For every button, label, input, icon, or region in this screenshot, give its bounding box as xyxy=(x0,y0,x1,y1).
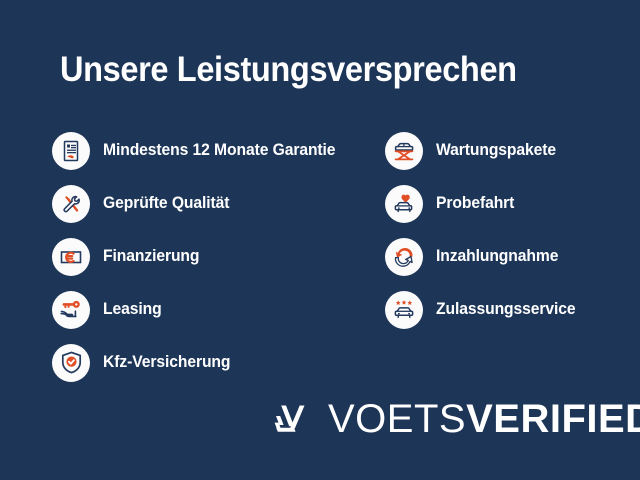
feature-item-wartungspakete[interactable]: Wartungspakete xyxy=(385,124,583,177)
leistungsversprechen-banner: Unsere Leistungsversprechen Min xyxy=(0,0,640,480)
exchange-arrows-icon xyxy=(385,238,423,276)
wrench-screwdriver-icon xyxy=(52,185,90,223)
feature-item-probefahrt[interactable]: Probefahrt xyxy=(385,177,583,230)
car-heart-icon xyxy=(385,185,423,223)
feature-item-gepruefte-qualitaet[interactable]: Geprüfte Qualität xyxy=(52,177,348,230)
shield-check-icon xyxy=(52,344,90,382)
feature-item-zulassungsservice[interactable]: Zulassungsservice xyxy=(385,283,583,336)
feature-label: Finanzierung xyxy=(103,247,199,266)
features-right-column: Wartungspakete Probefahrt xyxy=(385,124,583,336)
features-left-column: Mindestens 12 Monate Garantie Geprüfte Q… xyxy=(52,124,348,389)
feature-item-finanzierung[interactable]: Finanzierung xyxy=(52,230,348,283)
feature-label: Leasing xyxy=(103,300,162,319)
feature-item-inzahlungnahme[interactable]: Inzahlungnahme xyxy=(385,230,583,283)
feature-item-kfz-versicherung[interactable]: Kfz-Versicherung xyxy=(52,336,348,389)
feature-label: Probefahrt xyxy=(436,194,514,213)
logo-wordmark: VOETSVERIFIED xyxy=(328,399,640,439)
voets-verified-logo[interactable]: VOETSVERIFIED xyxy=(268,396,640,442)
page-title: Unsere Leistungsversprechen xyxy=(60,48,517,92)
feature-label: Inzahlungnahme xyxy=(436,247,558,266)
feature-item-leasing[interactable]: Leasing xyxy=(52,283,348,336)
feature-label: Mindestens 12 Monate Garantie xyxy=(103,141,335,160)
feature-label: Kfz-Versicherung xyxy=(103,353,230,372)
feature-label: Zulassungsservice xyxy=(436,300,576,319)
certificate-document-icon xyxy=(52,132,90,170)
logo-word-voets: VOETS xyxy=(328,397,466,441)
feature-label: Wartungspakete xyxy=(436,141,556,160)
voets-v-checkmark-icon xyxy=(268,396,314,442)
feature-label: Geprüfte Qualität xyxy=(103,194,229,213)
euro-banknote-icon xyxy=(52,238,90,276)
car-on-lift-icon xyxy=(385,132,423,170)
car-stars-icon xyxy=(385,291,423,329)
logo-word-verified: VERIFIED xyxy=(466,397,640,441)
key-in-hand-icon xyxy=(52,291,90,329)
feature-item-garantie[interactable]: Mindestens 12 Monate Garantie xyxy=(52,124,348,177)
